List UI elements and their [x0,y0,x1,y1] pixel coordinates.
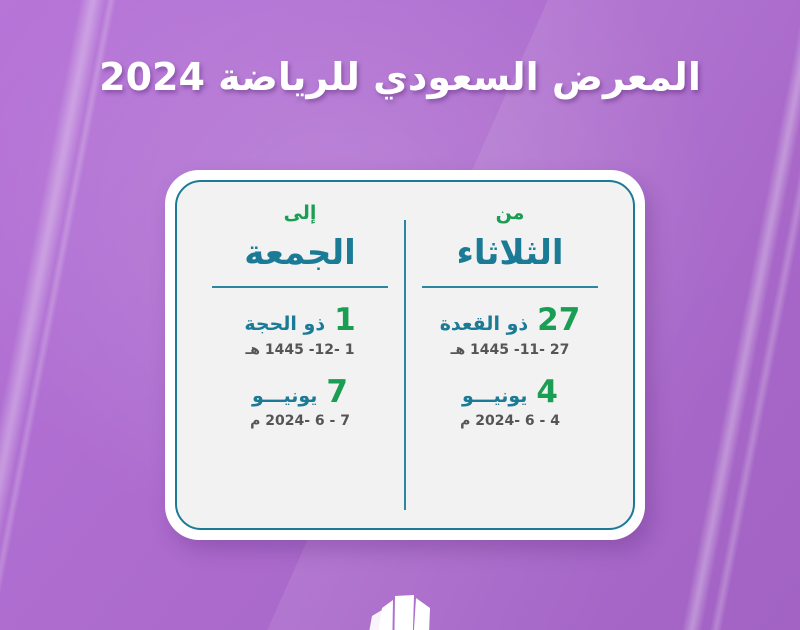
gregorian-date-main-to: 7 يونيـــو [250,376,350,409]
column-label-from: من [496,204,525,223]
fan-petals-logo-icon [348,582,458,630]
gregorian-date-to: 7 يونيـــو 7 - 6 -2024 م [250,376,350,430]
hijri-date-from: 27 ذو القعدة 27 -11- 1445 هـ [440,304,581,358]
gregorian-full-date-from: 4 - 6 -2024 م [460,413,560,429]
date-column-from: من الثلاثاء 27 ذو القعدة 27 -11- 1445 هـ… [405,204,615,508]
hijri-date-main-from: 27 ذو القعدة [440,304,581,337]
poster-canvas: المعرض السعودي للرياضة 2024 من الثلاثاء … [0,0,800,630]
hijri-day-number-from: 27 [537,304,580,337]
hijri-month-name-to: ذو الحجة [244,315,325,335]
column-rule [422,286,598,288]
date-range-card-inner: من الثلاثاء 27 ذو القعدة 27 -11- 1445 هـ… [175,180,635,530]
hijri-full-date-from: 27 -11- 1445 هـ [440,342,581,358]
hijri-full-date-to: 1 -12- 1445 هـ [244,342,355,358]
gregorian-day-number-from: 4 [536,376,558,409]
column-label-to: إلى [284,204,317,223]
date-range-card: من الثلاثاء 27 ذو القعدة 27 -11- 1445 هـ… [165,170,645,540]
date-column-to: إلى الجمعة 1 ذو الحجة 1 -12- 1445 هـ 7 [195,204,405,508]
hijri-date-main-to: 1 ذو الحجة [244,304,355,337]
hijri-month-name-from: ذو القعدة [440,315,528,335]
column-day-name-from: الثلاثاء [456,235,563,272]
gregorian-full-date-to: 7 - 6 -2024 م [250,413,350,429]
page-title: المعرض السعودي للرياضة 2024 [0,55,800,99]
gregorian-month-name-to: يونيـــو [252,387,317,407]
hijri-date-to: 1 ذو الحجة 1 -12- 1445 هـ [244,304,355,358]
gregorian-date-main-from: 4 يونيـــو [460,376,560,409]
column-divider [404,220,406,510]
column-rule [212,286,388,288]
gregorian-month-name-from: يونيـــو [462,387,527,407]
hijri-day-number-to: 1 [334,304,356,337]
gregorian-date-from: 4 يونيـــو 4 - 6 -2024 م [460,376,560,430]
gregorian-day-number-to: 7 [326,376,348,409]
column-day-name-to: الجمعة [244,235,356,272]
